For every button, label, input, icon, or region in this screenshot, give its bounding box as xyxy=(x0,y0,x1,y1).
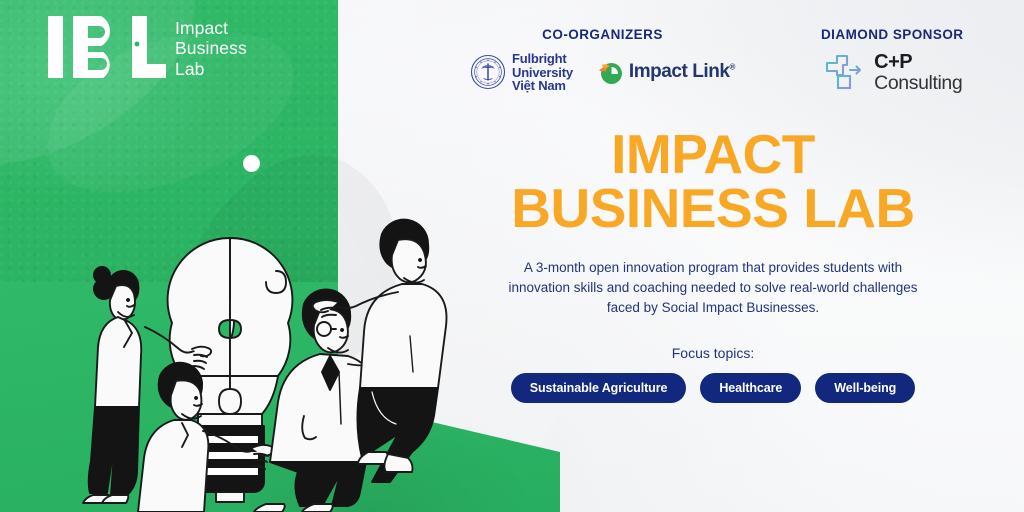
focus-topics-list: Sustainable Agriculture Healthcare Well-… xyxy=(468,373,958,403)
fulbright-line-2: University xyxy=(512,66,573,80)
impact-link-logo: Impact Link® xyxy=(595,58,735,86)
title-line-1: IMPACT xyxy=(468,128,958,182)
fulbright-line-3: Việt Nam xyxy=(512,79,573,93)
partners-section: CO-ORGANIZERS xyxy=(470,27,963,94)
cp-consulting-wordmark: C+P Consulting xyxy=(874,52,962,94)
decorative-dot xyxy=(243,155,260,172)
ibl-logo-wordmark: Impact Business Lab xyxy=(175,12,247,79)
impact-link-registered-mark: ® xyxy=(730,63,735,72)
diamond-sponsor-group: DIAMOND SPONSOR xyxy=(821,27,964,94)
co-organizers-logos: Fulbright University Việt Nam Impact Lin… xyxy=(470,52,735,93)
focus-topic-badge-healthcare[interactable]: Healthcare xyxy=(700,373,801,403)
description-line-3: faced by Social Impact Businesses. xyxy=(468,298,958,318)
co-organizers-heading: CO-ORGANIZERS xyxy=(542,27,663,42)
focus-topics-label: Focus topics: xyxy=(468,345,958,361)
fulbright-logo: Fulbright University Việt Nam xyxy=(470,52,573,93)
description-line-2: innovation skills and coaching needed to… xyxy=(468,278,958,298)
impact-link-text: Impact Link xyxy=(629,61,730,82)
team-lightbulb-puzzle-illustration xyxy=(52,186,522,512)
fulbright-seal-icon xyxy=(470,54,506,90)
diamond-sponsor-logos: C+P Consulting xyxy=(822,52,962,94)
logo-word-line-2: Business xyxy=(175,38,247,58)
co-organizers-group: CO-ORGANIZERS xyxy=(470,27,735,93)
logo-word-line-1: Impact xyxy=(175,18,247,38)
description-line-1: A 3-month open innovation program that p… xyxy=(468,258,958,278)
cp-consulting-logo: C+P Consulting xyxy=(822,52,962,94)
diamond-sponsor-heading: DIAMOND SPONSOR xyxy=(821,27,964,42)
fulbright-wordmark: Fulbright University Việt Nam xyxy=(512,52,573,93)
title-line-2: BUSINESS LAB xyxy=(468,182,958,236)
logo-word-line-3: Lab xyxy=(175,59,247,79)
cp-line-1: C+P xyxy=(874,52,962,73)
focus-topic-badge-well-being[interactable]: Well-being xyxy=(815,373,915,403)
ibl-logo-mark-icon xyxy=(48,12,166,84)
focus-topic-badge-sustainable-agriculture[interactable]: Sustainable Agriculture xyxy=(511,373,687,403)
page-title: IMPACT BUSINESS LAB xyxy=(468,128,958,236)
impact-link-mark-icon xyxy=(595,58,623,86)
ibl-logo: Impact Business Lab xyxy=(48,12,247,84)
hero-content: IMPACT BUSINESS LAB A 3-month open innov… xyxy=(468,128,958,403)
impact-link-wordmark: Impact Link® xyxy=(629,61,735,83)
fulbright-line-1: Fulbright xyxy=(512,52,573,66)
hero-illustration xyxy=(52,186,522,512)
cp-consulting-mark-icon xyxy=(822,53,868,93)
cp-line-2: Consulting xyxy=(874,73,962,94)
hero-description: A 3-month open innovation program that p… xyxy=(468,258,958,319)
promotional-banner: Impact Business Lab CO-ORGANIZERS xyxy=(0,0,1024,512)
